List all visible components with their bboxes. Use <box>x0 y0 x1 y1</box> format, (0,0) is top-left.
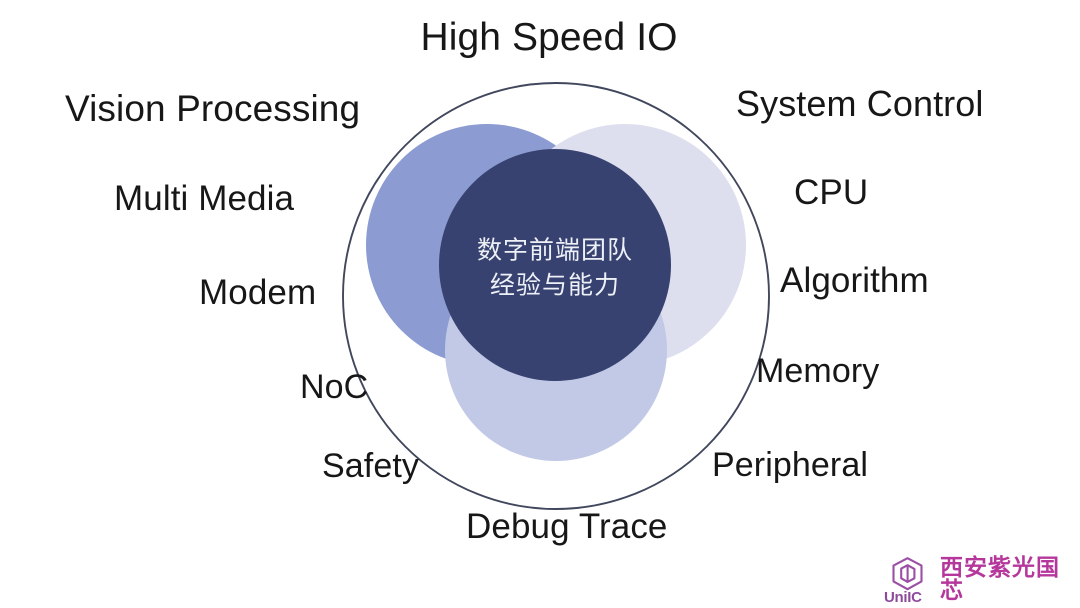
label-algorithm: Algorithm <box>780 263 929 298</box>
label-system-control: System Control <box>736 86 983 122</box>
company-logo: UniIC 西安紫光国芯 <box>884 556 1074 606</box>
label-peripheral: Peripheral <box>712 448 868 482</box>
logo-latin-text: UniIC <box>884 590 922 605</box>
slide-canvas: 数字前端团队 经验与能力 High Speed IO Vision Proces… <box>0 0 1080 608</box>
label-cpu: CPU <box>794 175 868 210</box>
label-high-speed-io: High Speed IO <box>420 18 677 57</box>
label-multi-media: Multi Media <box>114 181 294 216</box>
label-safety: Safety <box>322 449 419 483</box>
label-debug-trace: Debug Trace <box>466 509 668 544</box>
unic-cube-icon: UniIC <box>884 556 936 606</box>
label-vision-processing: Vision Processing <box>65 90 360 127</box>
center-circle <box>439 149 671 381</box>
label-modem: Modem <box>199 275 316 310</box>
label-noc: NoC <box>300 370 368 404</box>
logo-chinese-text: 西安紫光国芯 <box>940 556 1074 602</box>
label-memory: Memory <box>756 354 879 388</box>
